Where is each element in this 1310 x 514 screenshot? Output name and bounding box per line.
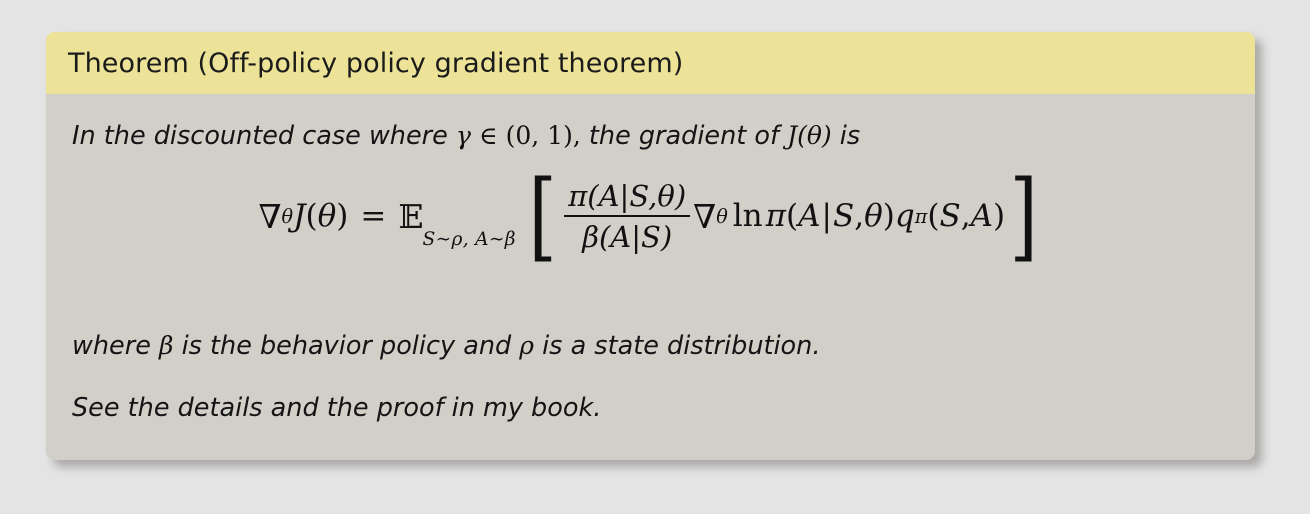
qvalue-close-paren: ) (993, 198, 1005, 234)
interval-range: (0, 1), (506, 121, 581, 150)
intro-statement: In the discounted case where γ ∈ (0, 1),… (72, 121, 860, 151)
book-reference-statement: See the details and the proof in my book… (72, 393, 601, 423)
membership-symbol: ∈ (479, 121, 498, 150)
bracket-close: ] (1010, 182, 1038, 251)
beta-symbol: β (159, 331, 173, 360)
nabla-subscript-theta: θ (282, 205, 294, 228)
score-comma: , (854, 198, 864, 234)
where-text-3: is a state distribution. (542, 331, 820, 361)
objective-functional: J(θ) (787, 121, 832, 150)
intro-text-before: In the discounted case where (72, 121, 448, 151)
qvalue-comma: , (961, 198, 971, 234)
score-action: A (798, 198, 820, 234)
fraction-denominator: β(A|S) (578, 217, 676, 254)
objective-J: J (293, 198, 305, 234)
score-nabla-subscript: θ (716, 205, 728, 228)
where-text-2: is the behavior policy and (182, 331, 512, 361)
score-nabla-operator: ∇ (693, 197, 716, 236)
gamma-symbol: γ (456, 121, 471, 150)
theorem-callout-box: Theorem (Off-policy policy gradient theo… (46, 32, 1255, 460)
score-open-paren: ( (786, 198, 798, 234)
importance-ratio-fraction: π(A|S,θ) β(A|S) (564, 179, 690, 254)
natural-log-operator: ln (733, 198, 763, 234)
where-text-1: where (72, 331, 151, 361)
nabla-operator: ∇ (258, 197, 281, 236)
lhs-open-paren: ( (306, 198, 318, 234)
score-policy-pi: π (766, 198, 786, 234)
theorem-title: Theorem (Off-policy policy gradient theo… (68, 48, 683, 79)
score-theta: θ (864, 198, 883, 234)
bracket-open: [ (528, 182, 556, 251)
intro-text-after: the gradient of (589, 121, 779, 151)
equals-sign: = (360, 198, 386, 234)
qvalue-action: A (971, 198, 993, 234)
lhs-close-paren: ) (336, 198, 348, 234)
lhs-theta: θ (318, 198, 337, 234)
score-conditional-bar: | (821, 198, 833, 234)
qvalue-state: S (939, 198, 960, 234)
fraction-numerator: π(A|S,θ) (564, 179, 690, 215)
score-close-paren: ) (883, 198, 895, 234)
score-state: S (833, 198, 854, 234)
theorem-body: In the discounted case where γ ∈ (0, 1),… (46, 94, 1255, 460)
where-statement: where β is the behavior policy and ρ is … (72, 331, 820, 361)
qvalue-open-paren: ( (927, 198, 939, 234)
theorem-header: Theorem (Off-policy policy gradient theo… (46, 32, 1255, 94)
action-value-q: q (895, 198, 915, 234)
intro-text-tail: is (840, 121, 860, 151)
action-value-subscript-pi: π (915, 205, 928, 228)
rho-symbol: ρ (519, 331, 534, 360)
policy-gradient-equation: ∇θ J(θ) = 𝔼S∼ρ, A∼β [ π(A|S,θ) β(A|S) ∇θ… (46, 179, 1255, 254)
expectation-subscript: S∼ρ, A∼β (423, 229, 516, 254)
expectation-operator: 𝔼 (398, 197, 422, 236)
